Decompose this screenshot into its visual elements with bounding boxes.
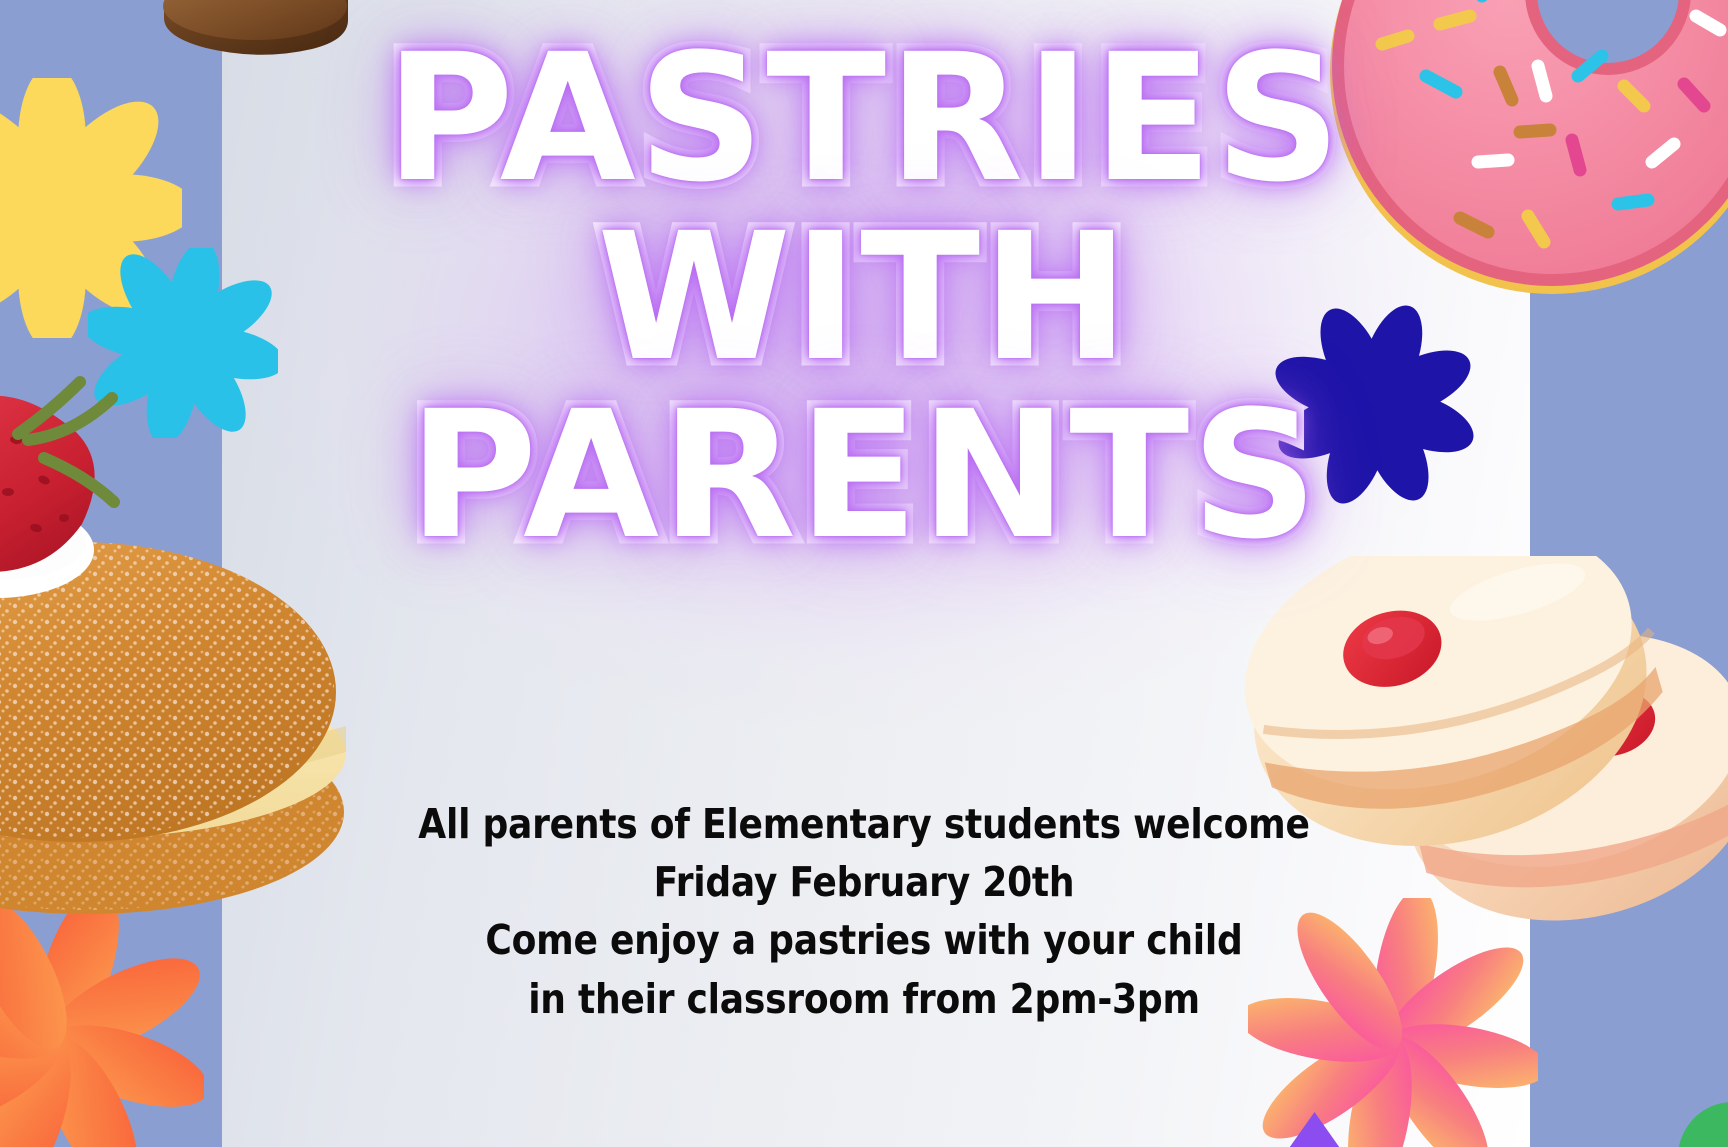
event-details: All parents of Elementary students welco… [0,795,1728,1028]
pastries-with-parents-poster: PASTRIES WITH PARENTS All parents of Ele… [0,0,1728,1147]
event-date-line: Friday February 20th [104,853,1625,911]
event-invitation-line: Come enjoy a pastries with your child [104,911,1625,969]
event-location-time-line: in their classroom from 2pm-3pm [104,970,1625,1028]
event-audience-line: All parents of Elementary students welco… [104,795,1625,853]
